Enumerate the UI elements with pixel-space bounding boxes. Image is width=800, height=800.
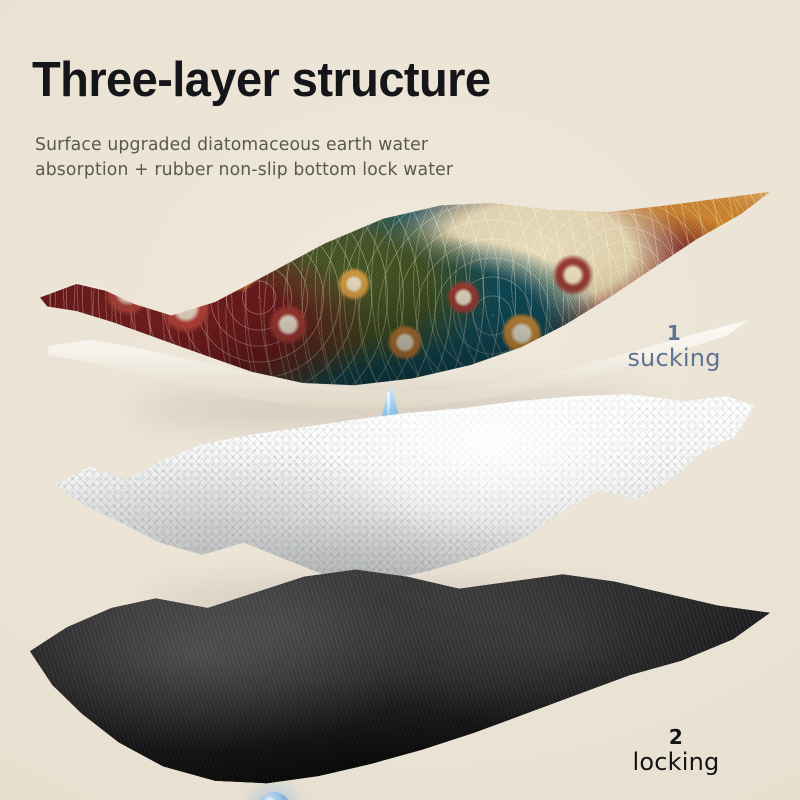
callout-number: 1 <box>614 322 734 345</box>
callout-label: sucking <box>614 345 734 373</box>
infographic-canvas: Three-layer structure Surface upgraded d… <box>0 0 800 800</box>
callout-label: locking <box>616 749 736 777</box>
callout-sucking: 1 sucking <box>614 322 734 373</box>
callout-locking: 2 locking <box>616 726 736 777</box>
callout-number: 2 <box>616 726 736 749</box>
page-title: Three-layer structure <box>32 56 490 106</box>
page-subtitle: Surface upgraded diatomaceous earth wate… <box>35 133 453 184</box>
